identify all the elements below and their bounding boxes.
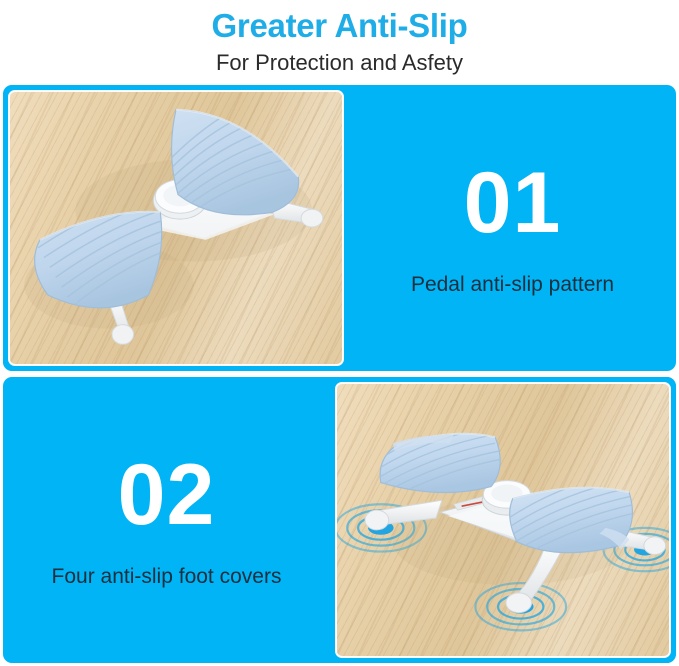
page-subtitle: For Protection and Asfety — [0, 48, 679, 78]
pedal-rear-left — [373, 419, 503, 502]
feature-text-02: 02 Four anti-slip foot covers — [3, 377, 330, 663]
feature-photo-02 — [330, 377, 676, 663]
feature-text-01: 01 Pedal anti-slip pattern — [349, 85, 676, 371]
feature-number: 02 — [118, 449, 216, 541]
feature-board: 01 Pedal anti-slip pattern 02 Four anti-… — [3, 85, 676, 663]
product-feature-infographic: Greater Anti-Slip For Protection and Asf… — [0, 0, 679, 666]
page-title: Greater Anti-Slip — [0, 6, 679, 46]
photo-frame — [8, 90, 344, 366]
feature-row-02: 02 Four anti-slip foot covers — [3, 377, 676, 663]
feature-number: 01 — [464, 157, 562, 249]
header: Greater Anti-Slip For Protection and Asf… — [0, 0, 679, 78]
product-illustration-angled-view — [337, 384, 669, 656]
photo-frame — [335, 382, 671, 658]
feature-caption: Pedal anti-slip pattern — [411, 271, 614, 299]
feature-photo-01 — [3, 85, 349, 371]
feature-row-01: 01 Pedal anti-slip pattern — [3, 85, 676, 371]
product-illustration-top-view — [10, 92, 342, 364]
feature-caption: Four anti-slip foot covers — [52, 563, 282, 591]
